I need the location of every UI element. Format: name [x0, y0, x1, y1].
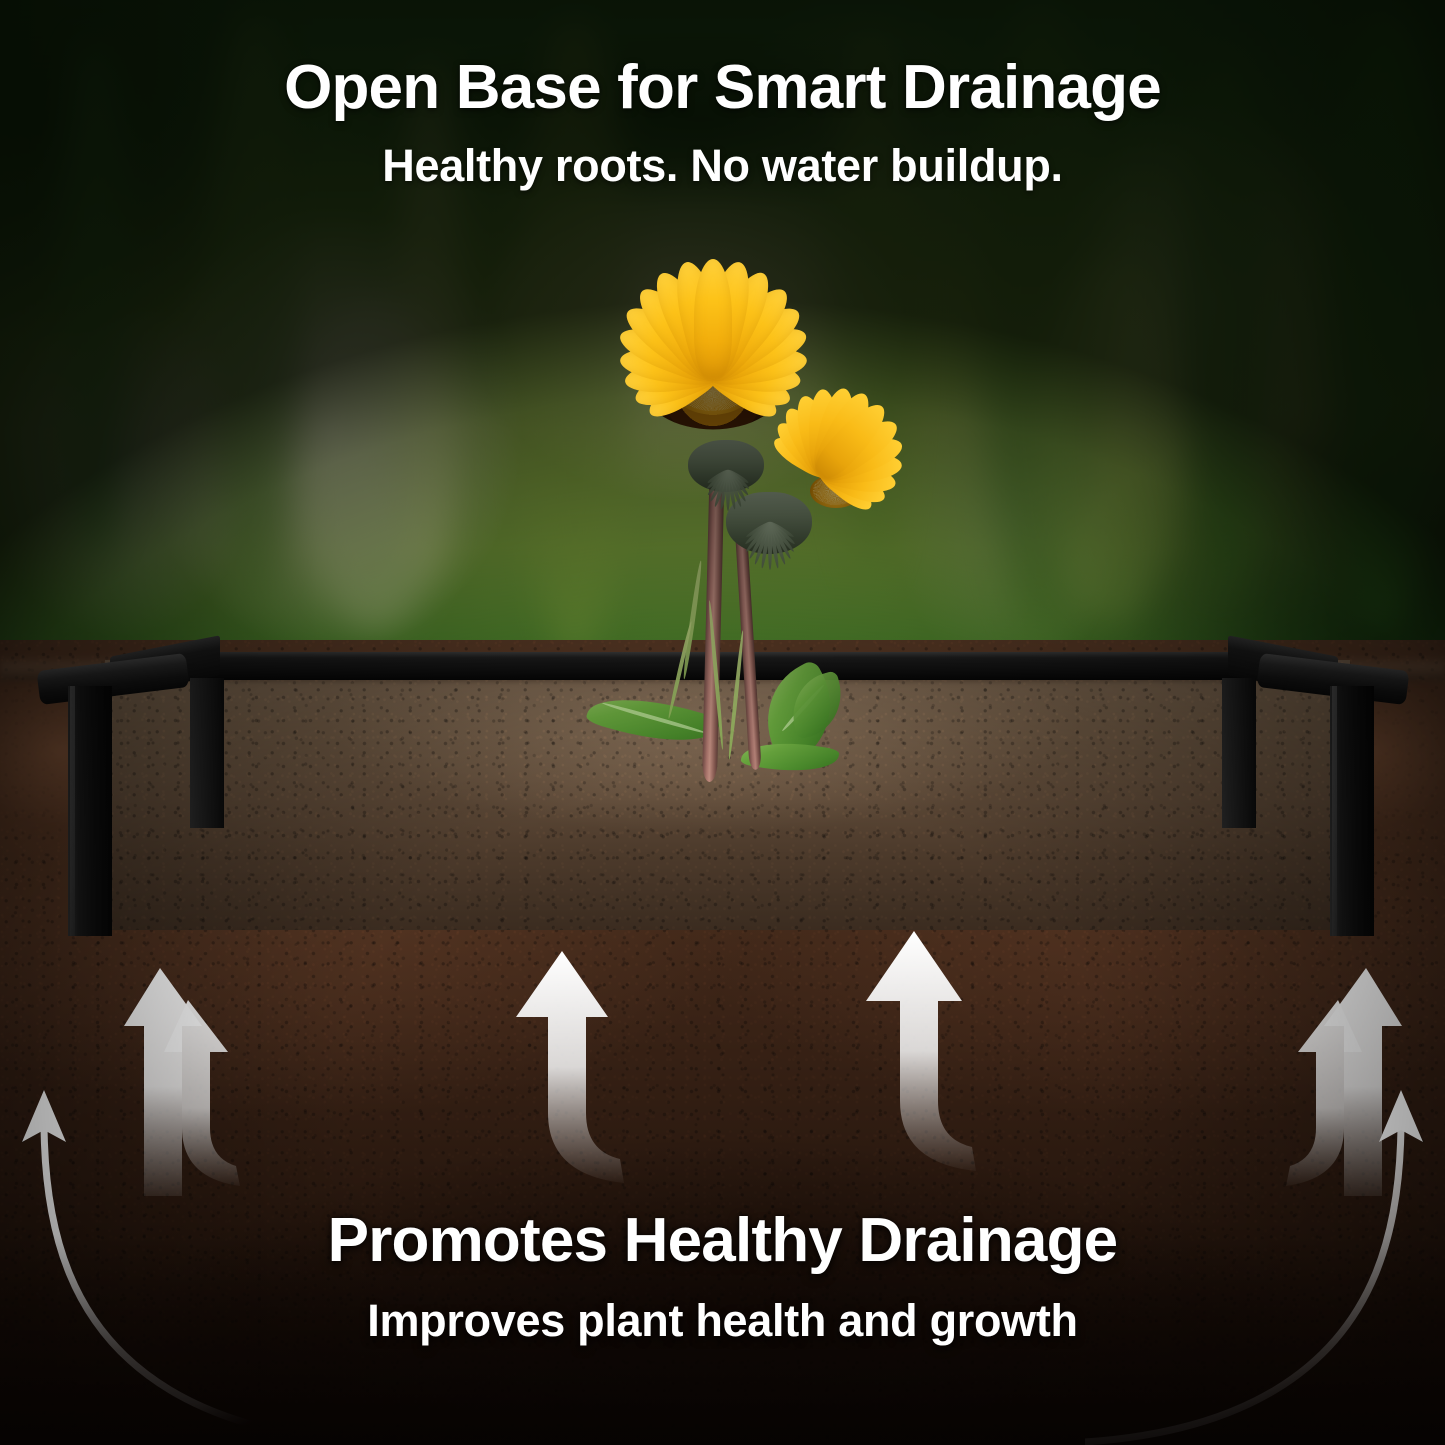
arrow-hook: [866, 931, 976, 1171]
thin-arrow-right-tail: [1085, 1120, 1401, 1442]
top-headline: Open Base for Smart Drainage: [0, 52, 1445, 123]
bottom-headline: Promotes Healthy Drainage: [0, 1205, 1445, 1276]
petal-front-10: [694, 259, 732, 378]
thin-arrow-left-tail: [44, 1120, 360, 1442]
product-infographic: Open Base for Smart Drainage Healthy roo…: [0, 0, 1445, 1445]
arrow-hook: [516, 951, 624, 1183]
top-subheadline: Healthy roots. No water buildup.: [0, 140, 1445, 192]
arrow-group-mid-left: [496, 945, 656, 1195]
arrow-group-mid-right: [838, 925, 1008, 1185]
bottom-subheadline: Improves plant health and growth: [0, 1295, 1445, 1347]
